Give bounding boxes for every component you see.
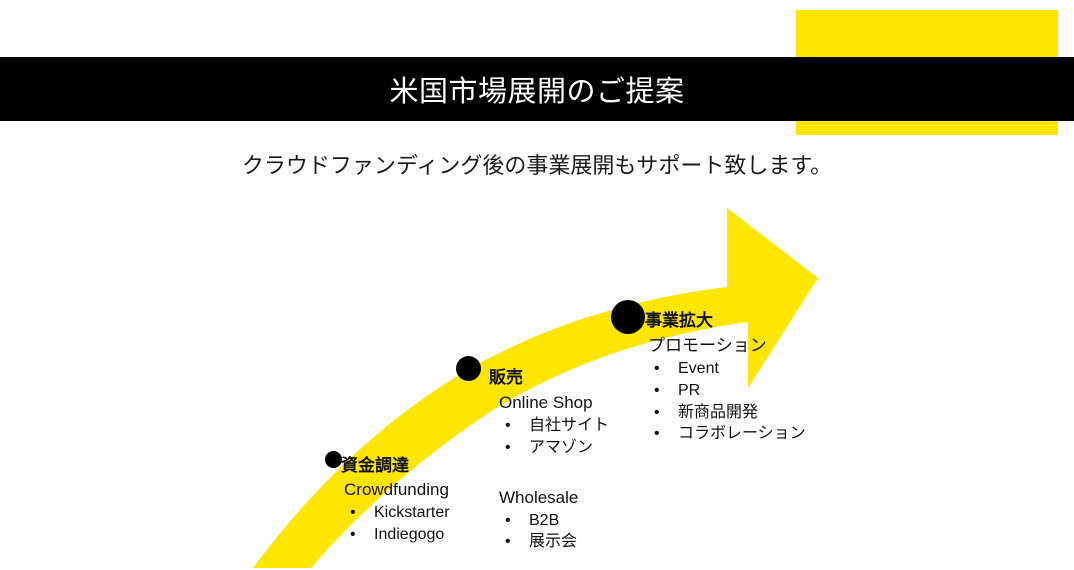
list-item: •新商品開発: [648, 402, 806, 424]
bullet-icon: •: [654, 380, 660, 402]
list-item: •自社サイト: [499, 415, 609, 437]
milestone-heading-sales: 販売: [489, 367, 609, 388]
list-item: •Kickstarter: [344, 502, 450, 524]
bullet-icon: •: [505, 415, 511, 437]
list-item: •コラボレーション: [648, 423, 806, 445]
section-items-online-shop: •自社サイト •アマゾン: [499, 415, 609, 458]
list-item-label: Event: [678, 360, 719, 377]
milestone-group-sales: 販売 Online Shop •自社サイト •アマゾン Wholesale •B…: [489, 367, 609, 553]
milestone-dot-funding: [325, 451, 342, 468]
milestone-heading-funding: 資金調達: [341, 455, 450, 476]
list-item-label: 展示会: [529, 533, 577, 550]
list-item: •アマゾン: [499, 437, 609, 459]
list-item-label: コラボレーション: [678, 425, 806, 442]
milestone-dot-expansion: [611, 300, 645, 334]
bullet-icon: •: [654, 402, 660, 424]
section-label-promotion: プロモーション: [648, 335, 806, 357]
list-item: •Event: [648, 358, 806, 380]
list-item: •B2B: [499, 510, 609, 532]
list-item-label: B2B: [529, 512, 559, 529]
bullet-icon: •: [350, 524, 356, 546]
bullet-icon: •: [505, 531, 511, 553]
bullet-icon: •: [505, 437, 511, 459]
list-item-label: Indiegogo: [374, 526, 444, 543]
list-item: •Indiegogo: [344, 524, 450, 546]
milestone-heading-expansion: 事業拡大: [645, 310, 806, 331]
bullet-icon: •: [654, 423, 660, 445]
bullet-icon: •: [505, 510, 511, 532]
section-spacer: [489, 459, 609, 483]
section-items-crowdfunding: •Kickstarter •Indiegogo: [344, 502, 450, 545]
milestone-group-funding: 資金調達 Crowdfunding •Kickstarter •Indiegog…: [341, 455, 450, 546]
section-label-wholesale: Wholesale: [499, 487, 609, 509]
list-item-label: PR: [678, 382, 700, 399]
section-label-crowdfunding: Crowdfunding: [344, 479, 450, 501]
section-label-online-shop: Online Shop: [499, 392, 609, 414]
milestone-dot-sales: [456, 356, 481, 381]
bullet-icon: •: [350, 502, 356, 524]
section-items-promotion: •Event •PR •新商品開発 •コラボレーション: [648, 358, 806, 444]
list-item-label: 新商品開発: [678, 404, 758, 421]
slide-canvas: 米国市場展開のご提案 クラウドファンディング後の事業展開もサポート致します。 資…: [0, 0, 1074, 570]
bullet-icon: •: [654, 358, 660, 380]
list-item: •PR: [648, 380, 806, 402]
milestone-group-expansion: 事業拡大 プロモーション •Event •PR •新商品開発 •コラボレーション: [645, 310, 806, 445]
list-item: •展示会: [499, 531, 609, 553]
section-items-wholesale: •B2B •展示会: [499, 510, 609, 553]
list-item-label: Kickstarter: [374, 504, 450, 521]
list-item-label: アマゾン: [529, 439, 593, 456]
list-item-label: 自社サイト: [529, 417, 609, 434]
